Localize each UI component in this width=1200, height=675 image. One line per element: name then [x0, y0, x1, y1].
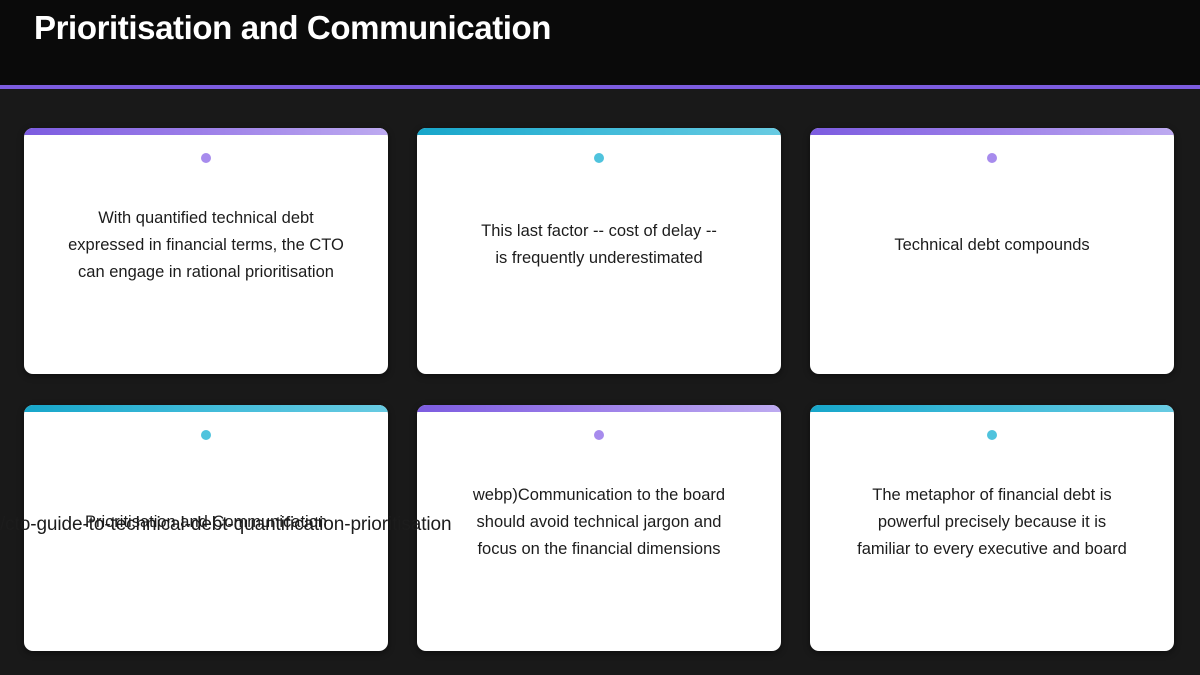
page-header: Prioritisation and Communication: [0, 0, 1200, 85]
header-accent-rule: [0, 85, 1200, 89]
content-card[interactable]: With quantified technical debt expressed…: [24, 128, 388, 374]
card-text: The metaphor of financial debt is powerf…: [810, 405, 1174, 651]
page-title: Prioritisation and Communication: [34, 9, 551, 47]
content-card[interactable]: Technical debt compounds: [810, 128, 1174, 374]
content-card[interactable]: This last factor -- cost of delay -- is …: [417, 128, 781, 374]
card-text: This last factor -- cost of delay -- is …: [417, 128, 781, 374]
card-text: webp)Communication to the board should a…: [417, 405, 781, 651]
card-text: Prioritisation and Communication: [24, 405, 388, 651]
card-grid: With quantified technical debt expressed…: [24, 128, 1176, 651]
content-card[interactable]: The metaphor of financial debt is powerf…: [810, 405, 1174, 651]
card-text: With quantified technical debt expressed…: [24, 128, 388, 374]
content-card[interactable]: webp)Communication to the board should a…: [417, 405, 781, 651]
content-card[interactable]: Prioritisation and Communication: [24, 405, 388, 651]
card-text: Technical debt compounds: [810, 128, 1174, 374]
